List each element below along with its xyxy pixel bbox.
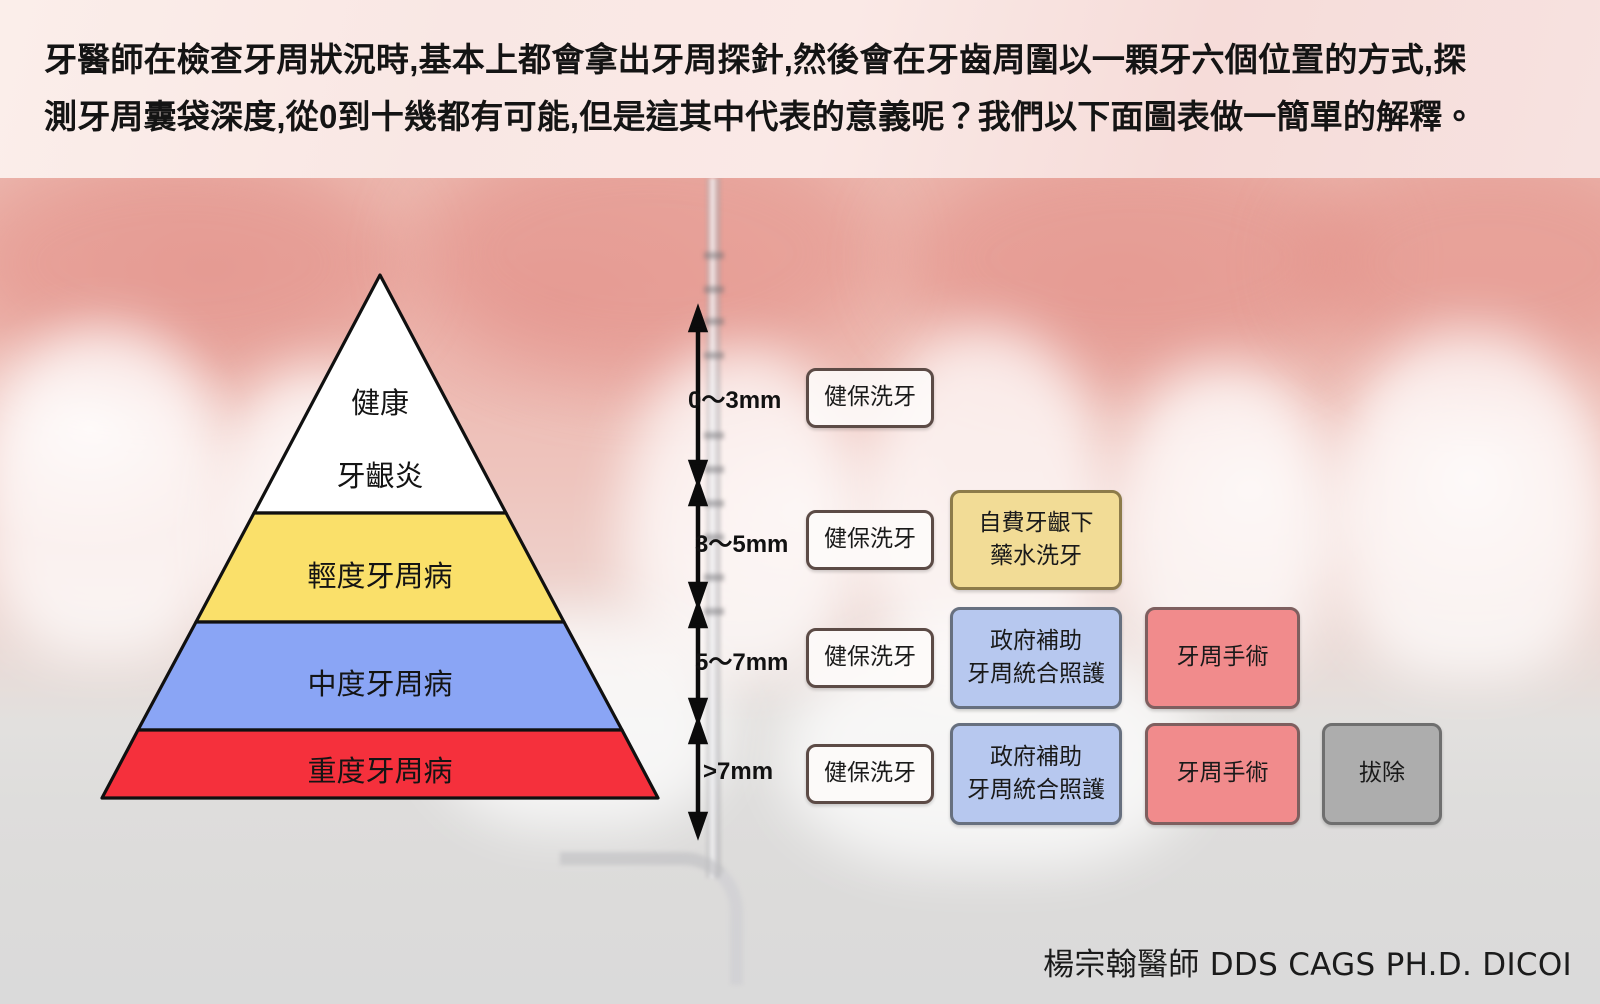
treatment-box-r0-scaling[interactable]: 健保洗牙 [806, 368, 934, 428]
treatment-label-line2: 牙周統合照護 [967, 658, 1105, 691]
header-banner: 牙醫師在檢查牙周狀況時,基本上都會拿出牙周探針,然後會在牙齒周圍以一顆牙六個位置… [0, 0, 1600, 178]
scale-label-over-7mm: >7mm [703, 758, 773, 786]
treatment-box-r1-subgingival-irrigation[interactable]: 自費牙齦下 藥水洗牙 [950, 490, 1122, 590]
scale-label-5-7mm: 5～7mm [695, 642, 788, 677]
pyramid-tier-yellow [196, 513, 564, 622]
scale-arrowhead-bottom-4 [691, 814, 705, 834]
dental-probe-bend [560, 852, 743, 985]
severity-pyramid: 健康 牙齦炎 輕度牙周病 中度牙周病 重度牙周病 [100, 270, 660, 810]
scale-label-3-5mm: 3～5mm [695, 524, 788, 559]
treatment-label-line2: 牙周統合照護 [967, 774, 1105, 807]
treatment-label: 健保洗牙 [824, 641, 916, 674]
treatment-box-r3-surgery[interactable]: 牙周手術 [1145, 723, 1300, 825]
scale-label-0-3mm: 0～3mm [688, 380, 781, 415]
treatment-box-r3-scaling[interactable]: 健保洗牙 [806, 744, 934, 804]
treatment-label: 牙周手術 [1177, 757, 1269, 790]
treatment-box-r2-integrated-care[interactable]: 政府補助 牙周統合照護 [950, 607, 1122, 709]
treatment-label-line2: 藥水洗牙 [990, 540, 1082, 573]
scale-arrowhead-top-2 [691, 484, 705, 504]
scale-arrowhead-top-1 [691, 310, 705, 330]
pyramid-tier-white [254, 275, 506, 513]
treatment-label: 健保洗牙 [824, 523, 916, 556]
author-signature: 楊宗翰醫師 DDS CAGS PH.D. DICOI [1043, 939, 1572, 984]
treatment-label-line1: 政府補助 [990, 625, 1082, 658]
treatment-label: 牙周手術 [1177, 641, 1269, 674]
treatment-box-r1-scaling[interactable]: 健保洗牙 [806, 510, 934, 570]
infographic-canvas: 牙醫師在檢查牙周狀況時,基本上都會拿出牙周探針,然後會在牙齒周圍以一顆牙六個位置… [0, 0, 1600, 1004]
treatment-label: 健保洗牙 [824, 757, 916, 790]
treatment-box-r3-extraction[interactable]: 拔除 [1322, 723, 1442, 825]
treatment-box-r2-scaling[interactable]: 健保洗牙 [806, 628, 934, 688]
scale-arrowhead-top-4 [691, 722, 705, 742]
treatment-label-line1: 自費牙齦下 [979, 507, 1094, 540]
treatment-label-line1: 政府補助 [990, 741, 1082, 774]
pyramid-tier-blue [138, 622, 622, 730]
header-line-2: 測牙周囊袋深度,從0到十幾都有可能,但是這其中代表的意義呢？我們以下面圖表做一簡… [44, 89, 1556, 146]
treatment-box-r3-integrated-care[interactable]: 政府補助 牙周統合照護 [950, 723, 1122, 825]
treatment-box-r2-surgery[interactable]: 牙周手術 [1145, 607, 1300, 709]
treatment-label: 拔除 [1359, 757, 1405, 790]
header-line-1: 牙醫師在檢查牙周狀況時,基本上都會拿出牙周探針,然後會在牙齒周圍以一顆牙六個位置… [44, 32, 1556, 89]
treatment-label: 健保洗牙 [824, 381, 916, 414]
pyramid-svg [100, 270, 660, 810]
pyramid-tier-red [102, 730, 658, 798]
scale-arrowhead-top-3 [691, 606, 705, 626]
